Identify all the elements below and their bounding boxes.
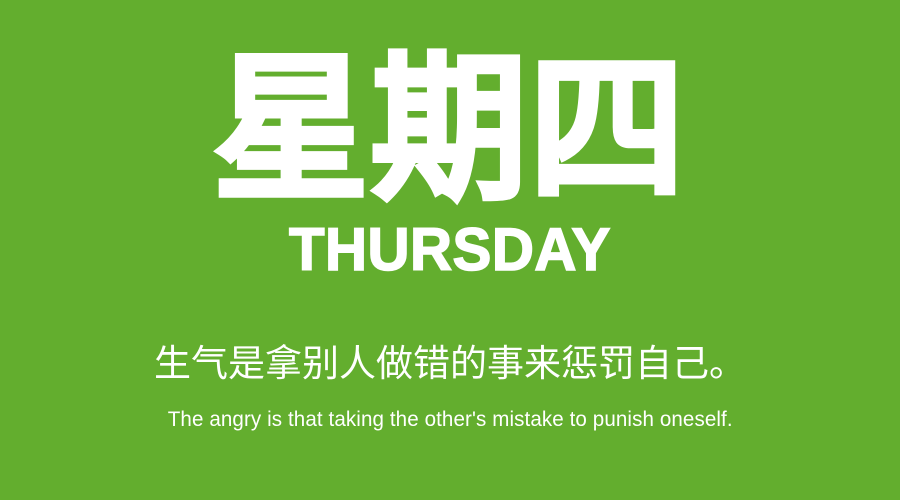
day-name-english: THURSDAY	[289, 220, 611, 280]
daily-quote-card: 星期四 THURSDAY 生气是拿别人做错的事来惩罚自己。 The angry …	[0, 0, 900, 500]
day-name-chinese: 星期四	[213, 50, 687, 209]
quote-text-chinese: 生气是拿别人做错的事来惩罚自己。	[154, 344, 746, 385]
quote-block: 生气是拿别人做错的事来惩罚自己。 The angry is that takin…	[0, 344, 900, 432]
day-heading-block: 星期四 THURSDAY	[0, 50, 900, 280]
quote-text-english: The angry is that taking the other's mis…	[168, 407, 733, 432]
